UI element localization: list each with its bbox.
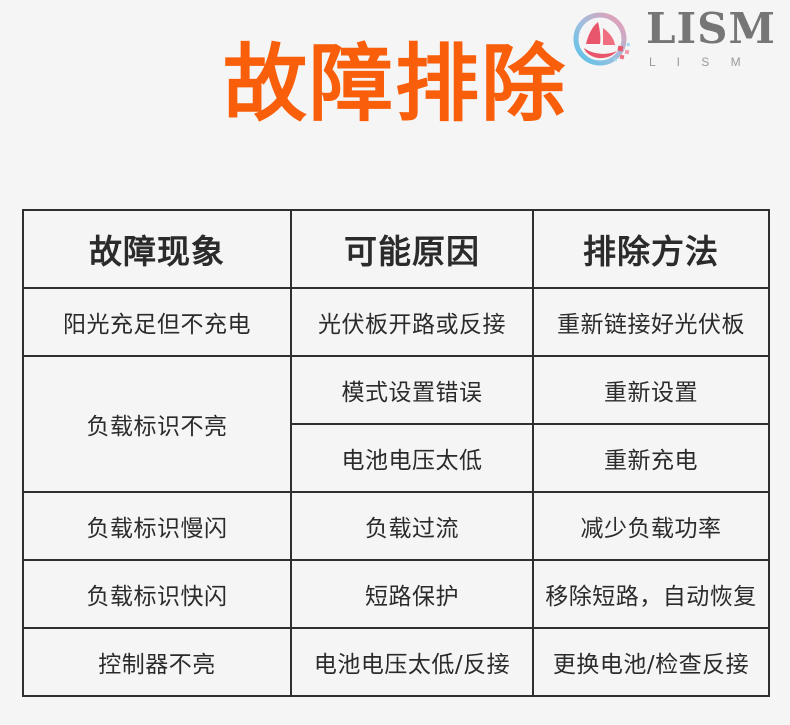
table-row: 阳光充足但不充电 光伏板开路或反接 重新链接好光伏板	[23, 288, 769, 356]
cell-symptom: 负载标识不亮	[23, 356, 291, 492]
column-header-symptom: 故障现象	[23, 210, 291, 288]
cell-cause: 负载过流	[291, 492, 533, 560]
cell-solution: 重新链接好光伏板	[533, 288, 769, 356]
table-row: 负载标识快闪 短路保护 移除短路，自动恢复	[23, 560, 769, 628]
cell-cause: 模式设置错误	[291, 356, 533, 424]
troubleshooting-table-wrapper: 故障现象 可能原因 排除方法 阳光充足但不充电 光伏板开路或反接 重新链接好光伏…	[22, 209, 768, 697]
cell-solution: 移除短路，自动恢复	[533, 560, 769, 628]
table-row: 控制器不亮 电池电压太低/反接 更换电池/检查反接	[23, 628, 769, 696]
cell-symptom: 负载标识慢闪	[23, 492, 291, 560]
cell-solution: 更换电池/检查反接	[533, 628, 769, 696]
table-row: 负载标识慢闪 负载过流 减少负载功率	[23, 492, 769, 560]
cell-symptom: 负载标识快闪	[23, 560, 291, 628]
cell-symptom: 控制器不亮	[23, 628, 291, 696]
cell-cause: 光伏板开路或反接	[291, 288, 533, 356]
cell-cause: 电池电压太低	[291, 424, 533, 492]
troubleshooting-table: 故障现象 可能原因 排除方法 阳光充足但不充电 光伏板开路或反接 重新链接好光伏…	[22, 209, 770, 697]
cell-solution: 重新设置	[533, 356, 769, 424]
cell-cause: 电池电压太低/反接	[291, 628, 533, 696]
cell-symptom: 阳光充足但不充电	[23, 288, 291, 356]
column-header-solution: 排除方法	[533, 210, 769, 288]
column-header-cause: 可能原因	[291, 210, 533, 288]
cell-cause: 短路保护	[291, 560, 533, 628]
table-row: 负载标识不亮 模式设置错误 重新设置	[23, 356, 769, 424]
cell-solution: 重新充电	[533, 424, 769, 492]
cell-solution: 减少负载功率	[533, 492, 769, 560]
page-title: 故障排除	[0, 42, 790, 126]
table-header-row: 故障现象 可能原因 排除方法	[23, 210, 769, 288]
